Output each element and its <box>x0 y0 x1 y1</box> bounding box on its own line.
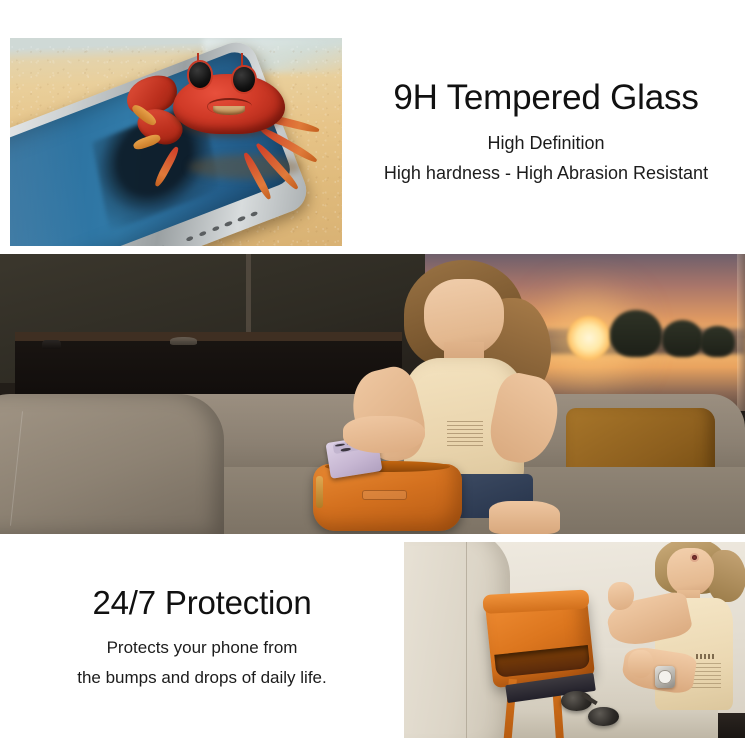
handbag-zipper-pull <box>316 476 323 508</box>
protection-headline: 24/7 Protection <box>22 585 382 622</box>
speaker-hole <box>224 221 232 227</box>
crab-on-phone-photo <box>10 38 342 246</box>
speaker-hole <box>237 216 245 222</box>
vase <box>42 340 61 349</box>
tote-bag-interior <box>495 645 591 677</box>
speaker-hole <box>186 236 194 242</box>
wristwatch <box>655 666 675 688</box>
tempered-glass-subline-1: High Definition <box>355 133 737 154</box>
protection-subline-2: the bumps and drops of daily life. <box>22 668 382 688</box>
leg <box>489 501 561 534</box>
hair-strand <box>708 550 745 602</box>
tank-top-print <box>447 421 483 449</box>
sunglasses-lens <box>588 707 619 727</box>
table-lamp <box>170 337 197 345</box>
protection-subline-1: Protects your phone from <box>22 638 382 658</box>
tempered-glass-text-block: 9H Tempered Glass High Definition High h… <box>355 78 737 184</box>
armchair-seam <box>466 542 467 738</box>
speaker-hole <box>212 226 220 232</box>
sideboard-console <box>15 332 402 394</box>
woman-shocked <box>598 542 745 738</box>
crab-carapace <box>173 74 285 134</box>
window-frame <box>737 254 745 411</box>
wall-post <box>246 254 251 338</box>
crab-eyestalk <box>241 53 243 66</box>
bag-spilling-photo <box>404 542 745 738</box>
crab-eye <box>189 62 211 87</box>
charging-port <box>129 245 166 246</box>
crab-mouthparts <box>213 106 244 116</box>
sunglasses-lens <box>561 691 592 711</box>
speaker-hole <box>250 211 258 217</box>
tree-silhouette <box>662 320 704 358</box>
woman-packing-bag-photo <box>0 254 745 534</box>
hand-reaching <box>628 650 653 678</box>
hand-holding-phone <box>343 416 425 452</box>
armrest-seam <box>10 411 23 525</box>
crab-leg <box>153 145 181 188</box>
protection-text-block: 24/7 Protection Protects your phone from… <box>22 585 382 688</box>
camera-lens <box>335 443 344 447</box>
red-crab <box>130 50 329 200</box>
speaker-hole <box>199 231 207 237</box>
sideboard-top <box>15 332 402 341</box>
open-mouth <box>692 555 697 560</box>
camera-lens <box>341 447 350 451</box>
tempered-glass-subline-2: High hardness - High Abrasion Resistant <box>355 163 737 184</box>
tree-silhouette <box>700 326 735 357</box>
tempered-glass-headline: 9H Tempered Glass <box>355 78 737 117</box>
tree-silhouette <box>610 310 661 357</box>
tank-top-brand-print <box>696 654 716 658</box>
watch-dial <box>658 670 671 683</box>
product-feature-collage: 9H Tempered Glass High Definition High h… <box>0 0 745 745</box>
handbag-label-patch <box>362 490 407 501</box>
sofa-armrest <box>0 394 224 534</box>
